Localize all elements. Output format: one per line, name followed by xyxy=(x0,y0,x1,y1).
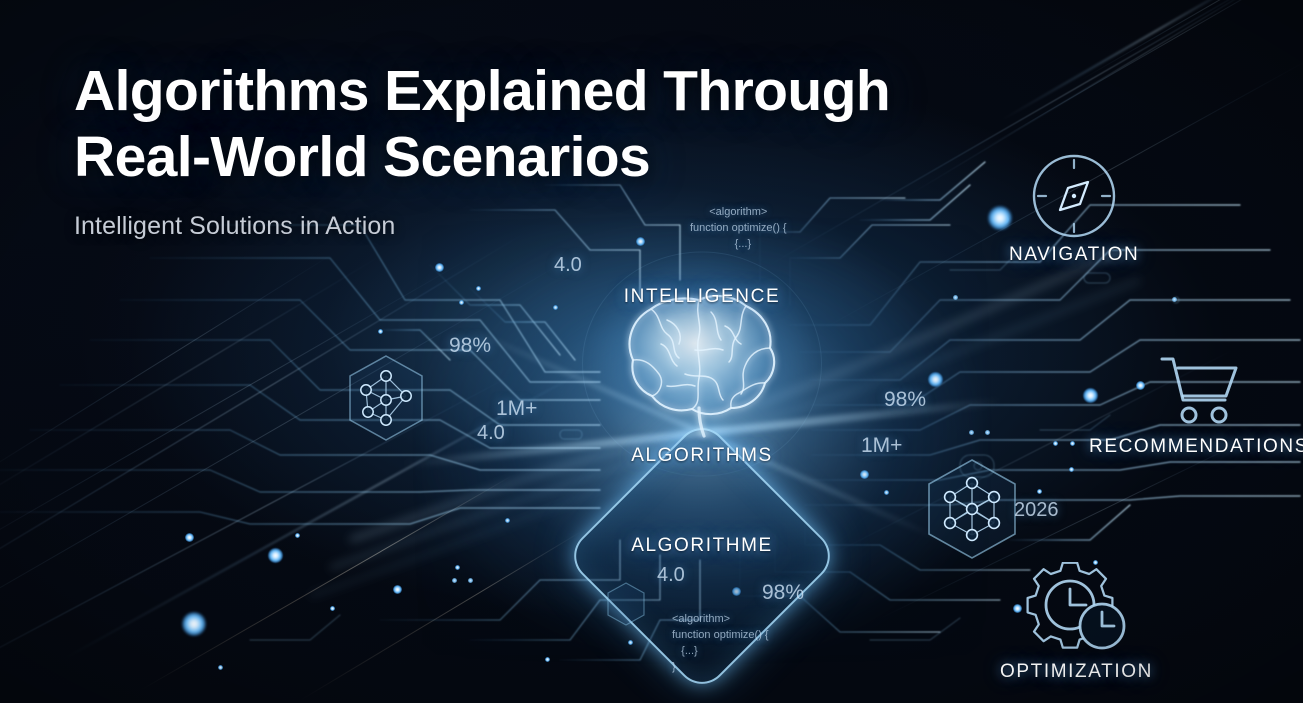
neural-network-hexagon-icon-left xyxy=(342,352,430,444)
stat-left-pct: 98% xyxy=(449,334,491,358)
stat-right-volume: 1M+ xyxy=(861,434,902,458)
stat-bottom-pct: 98% xyxy=(762,581,804,605)
label-algorithms: ALGORITHMS xyxy=(631,445,773,467)
page-subtitle: Intelligent Solutions in Action xyxy=(74,212,890,241)
compass-icon xyxy=(1028,150,1120,242)
label-intelligence: INTELLIGENCE xyxy=(624,286,780,308)
title-line-2: Real-World Scenarios xyxy=(74,124,890,190)
label-recommendations: RECOMMENDATIONS xyxy=(1089,436,1303,458)
label-algorithme: ALGORITHME xyxy=(631,535,773,557)
page-title: Algorithms Explained Through Real-World … xyxy=(74,58,890,190)
stat-left-volume: 1M+ xyxy=(496,397,537,421)
stat-bottom-rating: 4.0 xyxy=(657,564,685,587)
central-hub: INTELLIGENCE ALGORITHMS ALGORITHME xyxy=(492,268,912,598)
stat-left-rating: 4.0 xyxy=(477,422,505,445)
stat-right-year: 2026 xyxy=(1014,499,1059,522)
hexagon-icon-small xyxy=(604,580,648,628)
gear-clock-icon xyxy=(1020,562,1138,662)
neural-network-hexagon-icon-right xyxy=(920,455,1024,563)
stat-right-pct: 98% xyxy=(884,388,926,412)
code-snippet-bottom: <algorithm> function optimize() { {...} … xyxy=(672,612,769,676)
header: Algorithms Explained Through Real-World … xyxy=(74,58,890,241)
hero-banner: INTELLIGENCE ALGORITHMS ALGORITHME xyxy=(0,0,1303,703)
title-line-1: Algorithms Explained Through xyxy=(74,59,890,123)
label-optimization: OPTIMIZATION xyxy=(1000,661,1153,683)
stat-left-top: 4.0 xyxy=(554,254,582,277)
label-navigation: NAVIGATION xyxy=(1009,244,1139,266)
shopping-cart-icon xyxy=(1158,352,1242,428)
